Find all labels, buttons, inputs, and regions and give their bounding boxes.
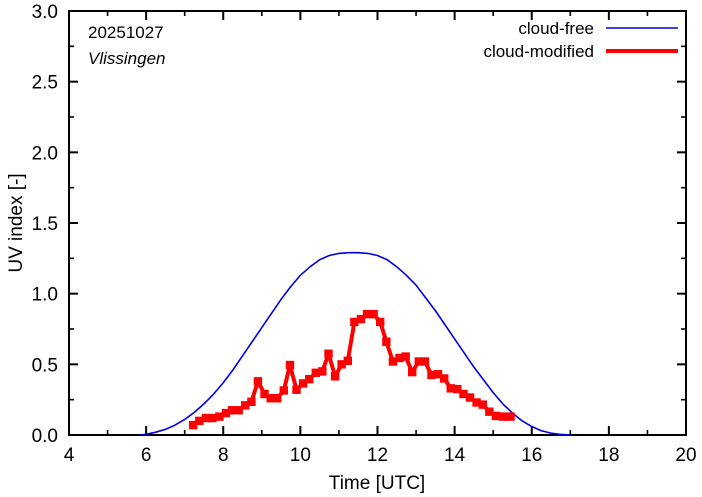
data-point-marker <box>440 374 448 382</box>
data-point-marker <box>318 367 326 375</box>
x-tick-label: 4 <box>64 445 75 466</box>
y-tick-labels: 0.00.51.01.52.02.53.0 <box>32 2 58 447</box>
x-tick-label: 20 <box>675 445 696 466</box>
data-point-marker <box>376 318 384 326</box>
data-point-marker <box>499 412 507 420</box>
y-axis-title: UV index [-] <box>6 173 27 272</box>
x-tick-label: 12 <box>367 445 388 466</box>
x-tick-label: 16 <box>521 445 542 466</box>
x-axis-title: Time [UTC] <box>329 473 425 494</box>
data-point-marker <box>421 357 429 365</box>
axis-ticks <box>69 11 686 435</box>
series-cloud-free <box>140 253 570 435</box>
data-point-marker <box>506 412 514 420</box>
y-tick-label: 0.5 <box>32 355 58 376</box>
data-point-marker <box>331 372 339 380</box>
series-line-cloud-free <box>140 253 570 435</box>
legend-label-cloud-modified: cloud-modified <box>483 42 594 61</box>
data-point-marker <box>382 338 390 346</box>
annotation-station: Vlissingen <box>88 49 166 68</box>
data-point-marker <box>280 386 288 394</box>
uv-index-chart: 468101214161820 0.00.51.01.52.02.53.0 Ti… <box>0 0 702 497</box>
annotation-date: 20251027 <box>88 23 164 42</box>
x-tick-labels: 468101214161820 <box>64 445 697 466</box>
series-cloud-modified <box>189 310 515 429</box>
x-tick-label: 18 <box>598 445 619 466</box>
y-tick-label: 2.0 <box>32 143 58 164</box>
data-point-marker <box>408 368 416 376</box>
plot-frame <box>69 11 686 435</box>
data-series <box>140 253 570 435</box>
y-tick-label: 1.0 <box>32 285 58 306</box>
data-point-marker <box>324 350 332 358</box>
y-tick-label: 0.0 <box>32 426 58 447</box>
data-point-marker <box>369 310 377 318</box>
data-point-marker <box>401 352 409 360</box>
data-point-marker <box>254 377 262 385</box>
y-tick-label: 3.0 <box>32 2 58 23</box>
chart-legend: cloud-freecloud-modified <box>483 19 678 61</box>
legend-label-cloud-free: cloud-free <box>518 19 594 38</box>
x-tick-label: 14 <box>444 445 466 466</box>
chart-canvas: 468101214161820 0.00.51.01.52.02.53.0 Ti… <box>0 0 702 497</box>
x-tick-label: 6 <box>141 445 152 466</box>
y-tick-label: 1.5 <box>32 214 58 235</box>
x-tick-label: 10 <box>290 445 311 466</box>
data-point-marker <box>344 357 352 365</box>
data-point-marker <box>247 398 255 406</box>
y-tick-label: 2.5 <box>32 73 58 94</box>
data-point-marker <box>286 361 294 369</box>
x-tick-label: 8 <box>218 445 229 466</box>
data-point-marker <box>273 394 281 402</box>
